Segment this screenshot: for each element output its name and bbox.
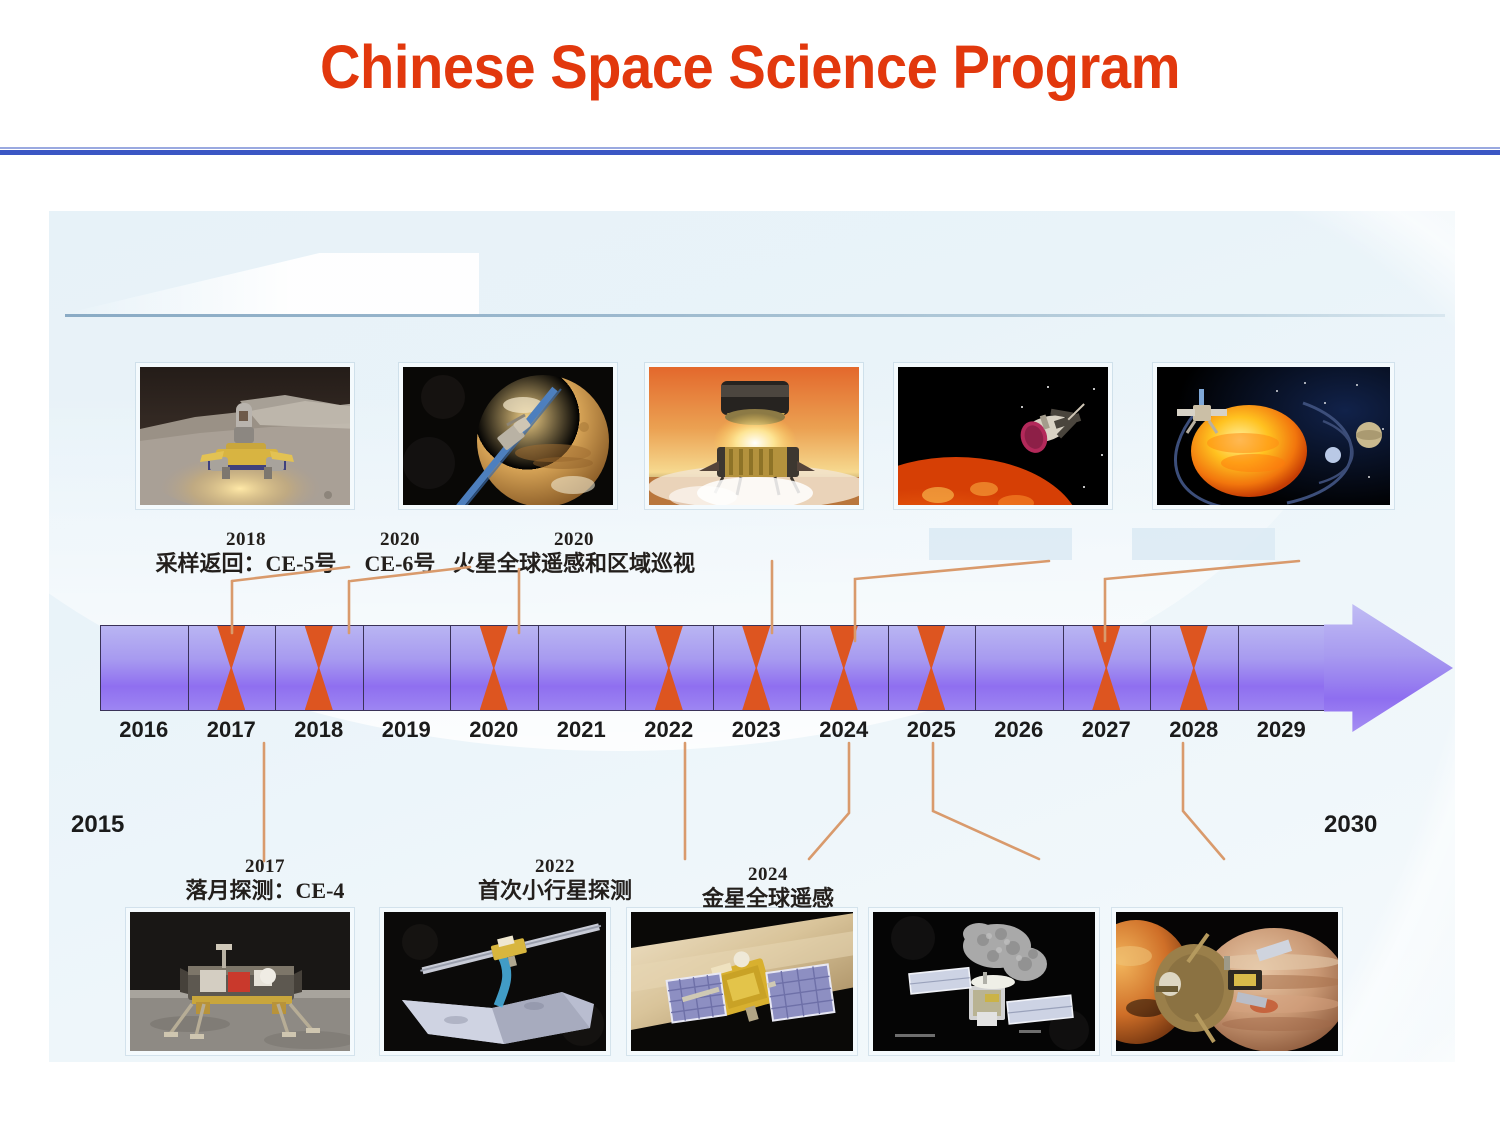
title-rule bbox=[0, 150, 1500, 155]
bottom-event-text-1: 落月探测：CE-4 bbox=[159, 878, 371, 905]
thumbnail-comet-probe[interactable] bbox=[869, 908, 1099, 1055]
timeline-year-2028: 2028 bbox=[1169, 717, 1218, 743]
empty-label-placeholder-2 bbox=[1132, 528, 1275, 560]
timeline-year-2025: 2025 bbox=[907, 717, 956, 743]
timeline-segment-divider bbox=[888, 625, 889, 711]
top-event-text-3: 火星全球遥感和区域巡视 bbox=[399, 551, 749, 578]
top-event-year-3: 2020 bbox=[399, 528, 749, 551]
bottom-event-text-2: 首次小行星探测 bbox=[431, 878, 679, 905]
timeline-segment-divider bbox=[450, 625, 451, 711]
title-rule-highlight bbox=[0, 147, 1500, 149]
timeline-axis: 2016201720182019202020212022202320242025… bbox=[100, 625, 1430, 753]
timeline-segment-divider bbox=[1150, 625, 1151, 711]
timeline-year-2018: 2018 bbox=[294, 717, 343, 743]
timeline-year-2027: 2027 bbox=[1082, 717, 1131, 743]
timeline-segment-divider bbox=[538, 625, 539, 711]
asteroid-probe-image bbox=[384, 912, 606, 1051]
timeline-year-2024: 2024 bbox=[819, 717, 868, 743]
timeline-segment-divider bbox=[975, 625, 976, 711]
timeline-year-2019: 2019 bbox=[382, 717, 431, 743]
timeline-end-year: 2030 bbox=[1324, 811, 1377, 839]
mars-ascent-liftoff-image bbox=[649, 367, 859, 505]
thumbnail-asteroid-probe[interactable] bbox=[380, 908, 610, 1055]
thumbnail-jupiter-probe[interactable] bbox=[1112, 908, 1342, 1055]
bottom-event-year-2: 2022 bbox=[431, 855, 679, 878]
empty-label-placeholder-1 bbox=[929, 528, 1072, 560]
title-bar: Chinese Space Science Program bbox=[0, 0, 1500, 155]
timeline-year-2016: 2016 bbox=[119, 717, 168, 743]
thumbnail-lunar-ascent-vehicle[interactable] bbox=[136, 363, 354, 509]
jupiter-probe-image bbox=[1116, 912, 1338, 1051]
timeline-segment-divider bbox=[800, 625, 801, 711]
thumbnail-ce4-lander[interactable] bbox=[126, 908, 354, 1055]
lunar-ascent-vehicle-image bbox=[140, 367, 350, 505]
thumbnail-mars-ascent-liftoff[interactable] bbox=[645, 363, 863, 509]
timeline-segment-divider bbox=[188, 625, 189, 711]
venus-orbiter-image bbox=[631, 912, 853, 1051]
solar-probe-orange-image bbox=[898, 367, 1108, 505]
timeline-segment-divider bbox=[363, 625, 364, 711]
timeline-segment-divider bbox=[1063, 625, 1064, 711]
bottom-event-year-3: 2024 bbox=[662, 863, 874, 886]
decorative-horizontal-rule bbox=[65, 314, 1445, 317]
timeline-year-2020: 2020 bbox=[469, 717, 518, 743]
timeline-year-2017: 2017 bbox=[207, 717, 256, 743]
thumbnail-solar-probe[interactable] bbox=[894, 363, 1112, 509]
timeline-year-2029: 2029 bbox=[1257, 717, 1306, 743]
thumbnail-mars-orbiter[interactable] bbox=[399, 363, 617, 509]
timeline-segment-divider bbox=[625, 625, 626, 711]
sun-orbit-probe-image bbox=[1157, 367, 1390, 505]
timeline-arrowhead-icon bbox=[1324, 604, 1453, 732]
timeline-year-2023: 2023 bbox=[732, 717, 781, 743]
comet-probe-image bbox=[873, 912, 1095, 1051]
page-title: Chinese Space Science Program bbox=[60, 32, 1440, 102]
timeline-year-2022: 2022 bbox=[644, 717, 693, 743]
timeline-segment-divider bbox=[713, 625, 714, 711]
timeline-segment-divider bbox=[275, 625, 276, 711]
bottom-event-label-2: 2022 首次小行星探测 bbox=[431, 855, 679, 905]
thumbnail-venus-orbiter[interactable] bbox=[627, 908, 857, 1055]
bottom-event-label-1: 2017 落月探测：CE-4 bbox=[159, 855, 371, 905]
timeline-panel: 2018 采样返回：CE-5号 2020 CE-6号 2020 火星全球遥感和区… bbox=[49, 211, 1455, 1062]
timeline-segment-divider bbox=[1238, 625, 1239, 711]
ce4-lunar-lander-image bbox=[130, 912, 350, 1051]
top-event-label-3: 2020 火星全球遥感和区域巡视 bbox=[399, 528, 749, 578]
mars-orbiter-image bbox=[403, 367, 613, 505]
decorative-banner-arrow bbox=[59, 253, 479, 315]
timeline-year-2021: 2021 bbox=[557, 717, 606, 743]
bottom-event-year-1: 2017 bbox=[159, 855, 371, 878]
timeline-year-2026: 2026 bbox=[994, 717, 1043, 743]
bottom-event-label-3: 2024 金星全球遥感 bbox=[662, 863, 874, 913]
timeline-start-year: 2015 bbox=[71, 811, 124, 839]
thumbnail-sun-orbit-probe[interactable] bbox=[1153, 363, 1394, 509]
